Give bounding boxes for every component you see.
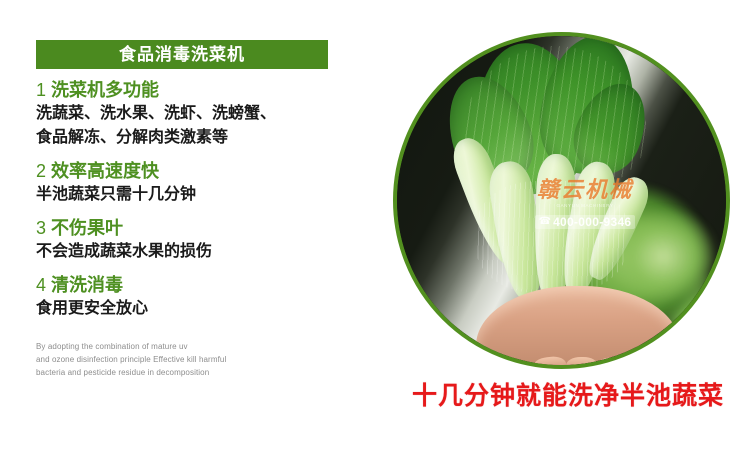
- feature-body-line-4-1: 食用更安全放心: [36, 298, 336, 321]
- english-line-2: and ozone disinfection principle Effecti…: [36, 353, 336, 366]
- feature-list-panel: 食品消毒洗菜机 1洗菜机多功能 洗蔬菜、洗水果、洗虾、洗螃蟹、 食品解冻、分解肉…: [36, 40, 336, 379]
- english-line-1: By adopting the combination of mature uv: [36, 340, 336, 353]
- feature-heading-text-4: 清洗消毒: [51, 275, 123, 295]
- section-title-bar: 食品消毒洗菜机: [36, 40, 328, 69]
- feature-item-3: 3不伤果叶 不会造成蔬菜水果的损伤: [36, 216, 336, 264]
- finger-4: [624, 354, 653, 365]
- feature-heading-1: 1洗菜机多功能: [36, 78, 336, 102]
- bottom-slogan: 十几分钟就能洗净半池蔬菜: [408, 382, 728, 411]
- feature-item-1: 1洗菜机多功能 洗蔬菜、洗水果、洗虾、洗螃蟹、 食品解冻、分解肉类激素等: [36, 78, 336, 150]
- feature-number-2: 2: [36, 159, 46, 183]
- feature-number-1: 1: [36, 78, 46, 102]
- feature-item-4: 4清洗消毒 食用更安全放心: [36, 273, 336, 321]
- feature-heading-text-1: 洗菜机多功能: [51, 80, 159, 100]
- feature-heading-text-2: 效率高速度快: [51, 161, 159, 181]
- feature-heading-4: 4清洗消毒: [36, 273, 336, 297]
- promo-banner: 食品消毒洗菜机 1洗菜机多功能 洗蔬菜、洗水果、洗虾、洗螃蟹、 食品解冻、分解肉…: [0, 0, 750, 470]
- feature-body-line-2-1: 半池蔬菜只需十几分钟: [36, 184, 336, 207]
- finger-2: [566, 357, 599, 365]
- bokchoy-stem-striations: [476, 181, 627, 293]
- feature-number-3: 3: [36, 216, 46, 240]
- feature-item-2: 2效率高速度快 半池蔬菜只需十几分钟: [36, 159, 336, 207]
- product-photo-circle: [393, 32, 730, 369]
- page-title: 食品消毒洗菜机: [119, 46, 245, 63]
- feature-heading-text-3: 不伤果叶: [51, 218, 123, 238]
- feature-body-line-1-1: 洗蔬菜、洗水果、洗虾、洗螃蟹、: [36, 103, 336, 126]
- finger-1: [532, 355, 566, 365]
- feature-body-line-3-1: 不会造成蔬菜水果的损伤: [36, 241, 336, 264]
- english-line-3: bacteria and pesticide residue in decomp…: [36, 366, 336, 379]
- feature-number-4: 4: [36, 273, 46, 297]
- english-description: By adopting the combination of mature uv…: [36, 340, 336, 380]
- feature-body-line-1-2: 食品解冻、分解肉类激素等: [36, 127, 336, 150]
- product-photo-image: [397, 36, 726, 365]
- feature-heading-2: 2效率高速度快: [36, 159, 336, 183]
- feature-heading-3: 3不伤果叶: [36, 216, 336, 240]
